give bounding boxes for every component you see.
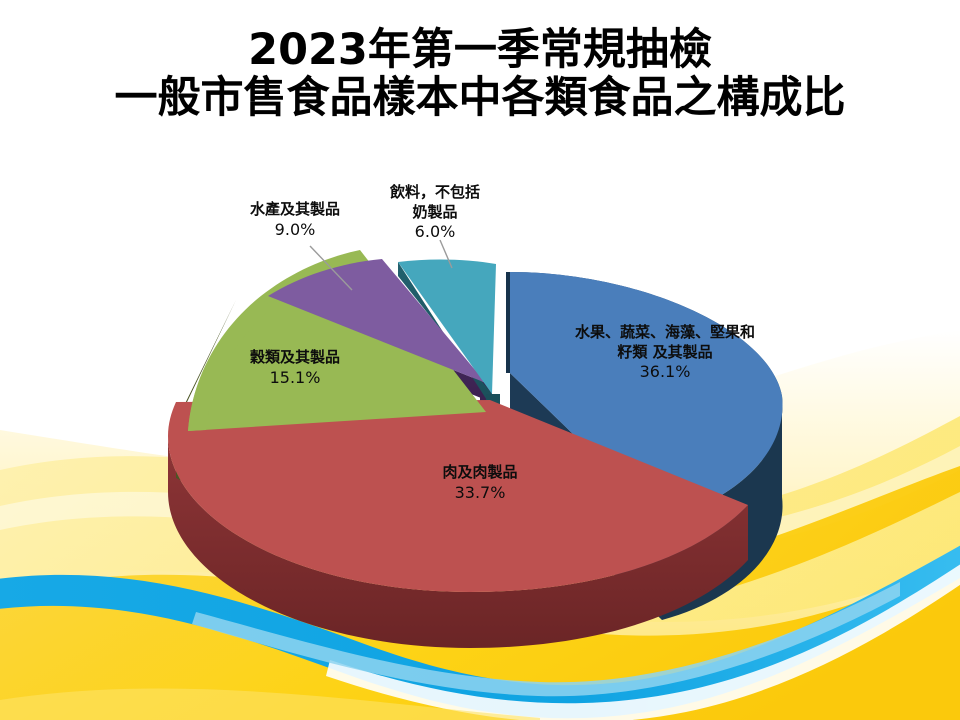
chart-title: 2023年第一季常規抽檢 一般市售食品樣本中各類食品之構成比 bbox=[0, 26, 960, 122]
chart-title-line-1: 2023年第一季常規抽檢 bbox=[0, 26, 960, 74]
slide-canvas: 2023年第一季常規抽檢 一般市售食品樣本中各類食品之構成比 bbox=[0, 0, 960, 720]
chart-title-line-2: 一般市售食品樣本中各類食品之構成比 bbox=[0, 74, 960, 122]
